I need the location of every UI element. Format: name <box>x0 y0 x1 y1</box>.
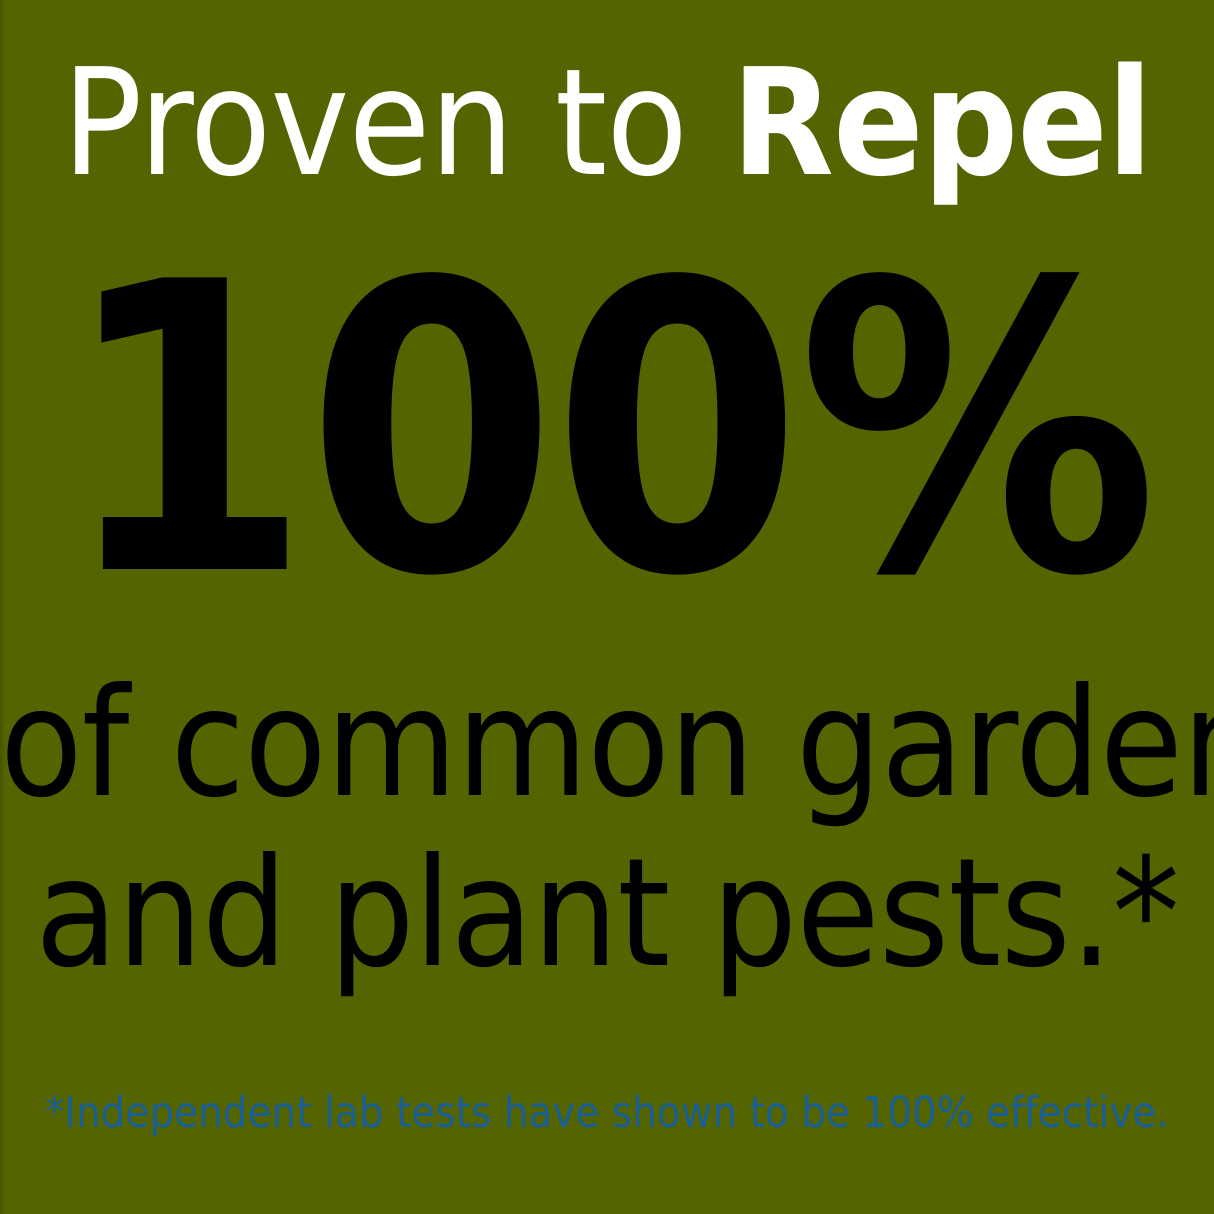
headline-prefix: Proven to <box>62 49 687 197</box>
headline-emphasis: Repel <box>731 49 1151 197</box>
headline: Proven to Repel <box>0 48 1214 198</box>
hero-stat-value: 100% <box>0 232 1214 632</box>
body-copy-line-1: of common garden <box>0 660 1214 830</box>
footnote-disclaimer: *Independent lab tests have shown to be … <box>0 1092 1214 1135</box>
promo-poster: Proven to Repel 100% of common garden an… <box>0 0 1214 1214</box>
body-copy: of common garden and plant pests.* <box>0 660 1214 999</box>
body-copy-line-2: and plant pests.* <box>0 830 1214 1000</box>
